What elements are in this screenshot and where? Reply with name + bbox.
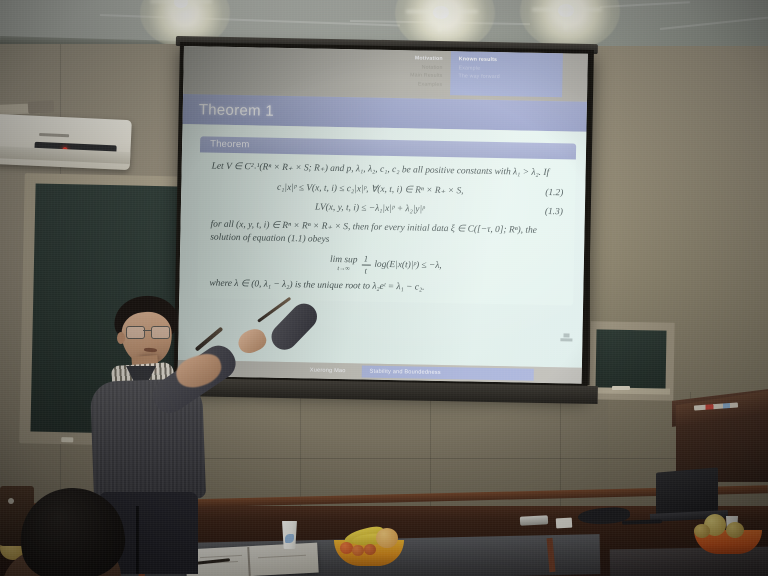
limsup-operator: lim sup t→∞ bbox=[330, 256, 358, 273]
nav-item-examples[interactable]: Examples bbox=[346, 79, 442, 89]
ac-top-object bbox=[28, 100, 55, 113]
glasses-lens-right bbox=[151, 326, 170, 339]
apple bbox=[376, 528, 398, 548]
small-fruit bbox=[364, 544, 376, 555]
paper-cup-logo-icon bbox=[285, 534, 294, 543]
theorem-conclusion-paragraph: for all (x, y, t, i) ∈ Rⁿ × Rⁿ × R₊ × S,… bbox=[210, 219, 562, 252]
chalk-piece bbox=[612, 386, 630, 390]
equation-1-3-number: (1.3) bbox=[529, 206, 563, 220]
chair-stud bbox=[8, 498, 14, 504]
chalk-piece bbox=[61, 437, 73, 442]
light-flare bbox=[564, 0, 567, 30]
apple bbox=[694, 524, 710, 538]
presenter-hand bbox=[235, 325, 270, 356]
apple bbox=[726, 522, 744, 538]
wall-panel-seam bbox=[300, 392, 301, 510]
limsup-expression: log(E|x(t)|ᵖ) ≤ −λ, bbox=[374, 259, 442, 273]
slide-title: Theorem 1 bbox=[183, 100, 275, 119]
equation-1-2-row: c₁|x|ᵖ ≤ V(x, t, i) ≤ c₂|x|ᵖ, ∀(x, t, i)… bbox=[211, 181, 563, 201]
limsup-label: lim sup bbox=[330, 256, 358, 266]
glasses-bridge bbox=[143, 330, 151, 331]
limsup-subscript: t→∞ bbox=[337, 266, 349, 272]
nav-item-the-way-forward[interactable]: The way forward bbox=[458, 72, 554, 82]
presenter-glasses-icon bbox=[126, 326, 170, 337]
equation-1-2-number: (1.2) bbox=[529, 187, 563, 201]
equation-1-3-row: LV(x, y, t, i) ≤ −λ₁|x|ᵖ + λ₂|y|ᵖ (1.3) bbox=[211, 200, 563, 220]
wall-panel-seam bbox=[430, 392, 431, 510]
equation-1-3: LV(x, y, t, i) ≤ −λ₁|x|ᵖ + λ₂|y|ᵖ bbox=[211, 200, 529, 219]
fraction-one-over-t: 1 t bbox=[361, 255, 370, 275]
slide-footer-author: Xuerong Mao bbox=[310, 367, 362, 374]
presenter-ear bbox=[117, 332, 125, 344]
small-white-box[interactable] bbox=[556, 518, 573, 529]
beamer-navigation-bar: Motivation Notation Main Results Example… bbox=[183, 46, 588, 102]
light-flare bbox=[438, 0, 441, 32]
remote-control[interactable] bbox=[520, 515, 548, 525]
theorem-block-body: Let V ∈ C²˒¹(Rⁿ × R₊ × S; R₊) and p, λ₁,… bbox=[197, 152, 576, 306]
chalk-ledge bbox=[596, 387, 670, 394]
air-conditioner[interactable] bbox=[0, 114, 132, 170]
slide-footer-title: Stability and Boundedness bbox=[361, 365, 533, 380]
nav-section-group-left: Motivation Notation Main Results Example… bbox=[338, 49, 451, 96]
nav-subsection-group-right: Known results Example The way forward bbox=[450, 51, 563, 98]
small-fruit bbox=[340, 542, 353, 554]
theorem-block: Theorem Let V ∈ C²˒¹(Rⁿ × R₊ × S; R₊) an… bbox=[197, 136, 576, 306]
small-fruit bbox=[352, 545, 364, 556]
light-flare bbox=[406, 10, 478, 13]
presenter-trouser-seam bbox=[136, 506, 139, 574]
limsup-equation: lim sup t→∞ 1 t log(E|x(t)|ᵖ) ≤ −λ, bbox=[210, 252, 562, 279]
theorem-lambda-root-paragraph: where λ ∈ (0, λ₁ − λ₂) is the unique roo… bbox=[209, 278, 561, 298]
beamer-logo-icon bbox=[560, 333, 574, 345]
lecture-room-photo: Motivation Notation Main Results Example… bbox=[0, 0, 768, 576]
theorem-hypothesis-paragraph: Let V ∈ C²˒¹(Rⁿ × R₊ × S; R₊) and p, λ₁,… bbox=[212, 161, 564, 181]
blackboard-right bbox=[595, 329, 666, 392]
glasses-lens-left bbox=[126, 326, 145, 339]
equation-1-2: c₁|x|ᵖ ≤ V(x, t, i) ≤ c₂|x|ᵖ, ∀(x, t, i)… bbox=[211, 181, 529, 200]
light-flare bbox=[532, 8, 602, 11]
fraction-denominator: t bbox=[364, 265, 367, 275]
ac-grille bbox=[39, 133, 69, 137]
light-flare bbox=[150, 0, 212, 3]
fraction-numerator: 1 bbox=[364, 255, 368, 265]
